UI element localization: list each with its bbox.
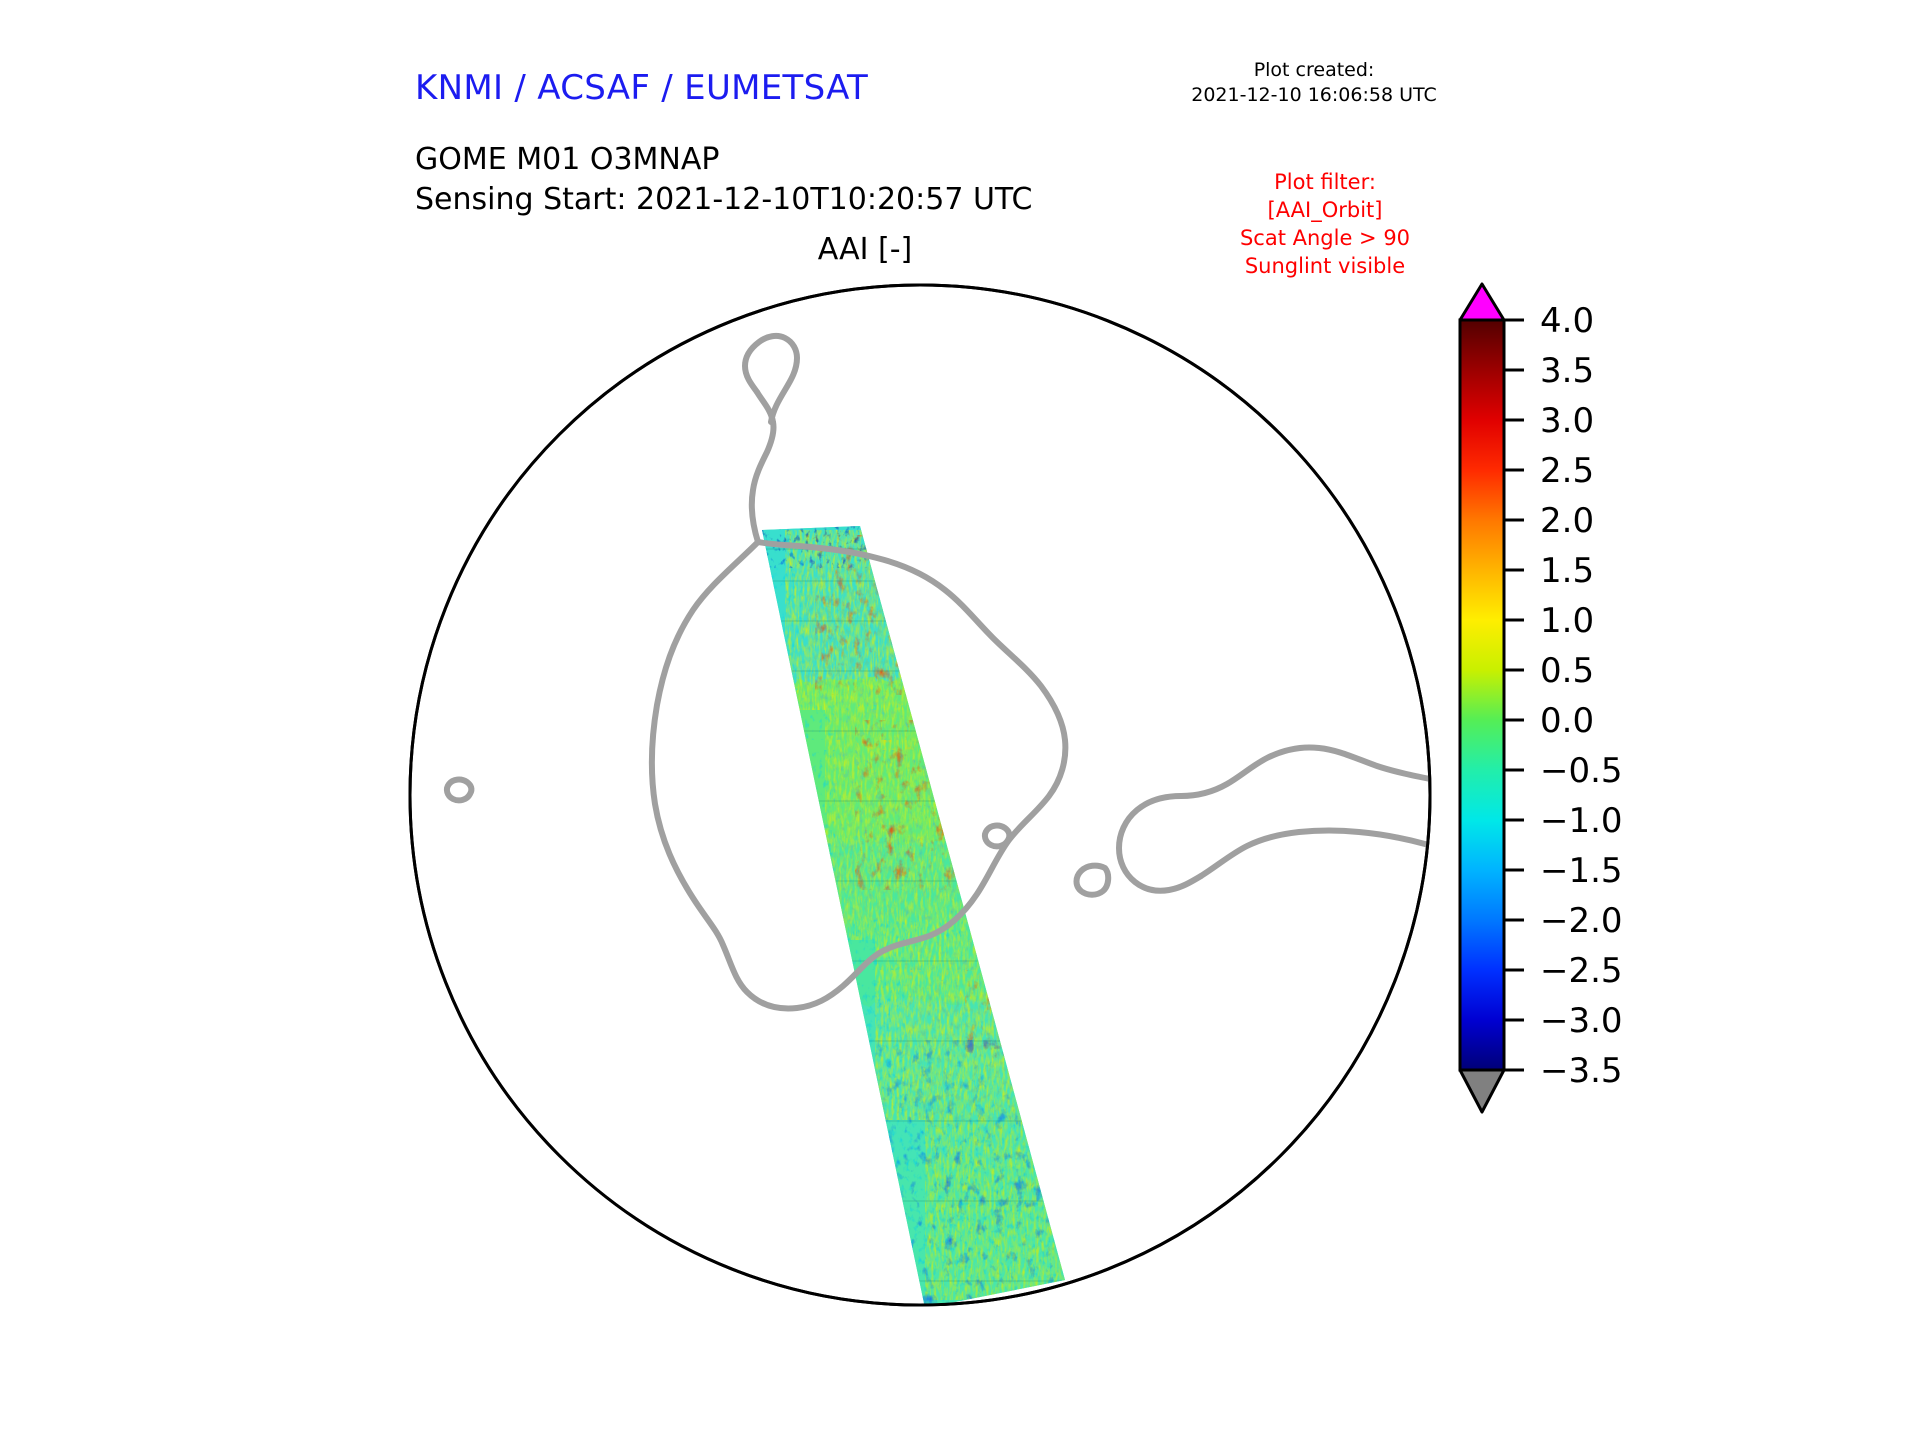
colorbar-tick-label: −0.5	[1540, 751, 1623, 791]
plot-created-label: Plot created:	[1168, 58, 1460, 83]
quantity-title: AAI [-]	[700, 232, 1030, 267]
colorbar-tick-label: −2.0	[1540, 901, 1623, 941]
plot-filter-line-1: [AAI_Orbit]	[1180, 196, 1470, 224]
sensing-start-title: Sensing Start: 2021-12-10T10:20:57 UTC	[415, 180, 1032, 220]
plot-filter-line-3: Sunglint visible	[1180, 252, 1470, 280]
colorbar-tick-label: 1.5	[1540, 551, 1594, 591]
organisation-header: KNMI / ACSAF / EUMETSAT	[415, 68, 868, 108]
colorbar-tick-label: −3.5	[1540, 1051, 1623, 1091]
map-svg	[405, 280, 1435, 1310]
plot-filter-line-2: Scat Angle > 90	[1180, 224, 1470, 252]
colorbar-over-range-arrow	[1460, 284, 1504, 320]
colorbar-tick-label: 2.0	[1540, 501, 1594, 541]
colorbar-tick-label: 0.5	[1540, 651, 1594, 691]
plot-title-block: GOME M01 O3MNAP Sensing Start: 2021-12-1…	[415, 140, 1032, 220]
colorbar-tick-label: 1.0	[1540, 601, 1594, 641]
colorbar-gradient	[1460, 320, 1504, 1070]
colorbar-tick-label: 0.0	[1540, 701, 1594, 741]
plot-filter-heading: Plot filter:	[1180, 168, 1470, 196]
colorbar-svg: 4.03.53.02.52.01.51.00.50.0−0.5−1.0−1.5−…	[1448, 282, 1778, 1304]
plot-created-block: Plot created: 2021-12-10 16:06:58 UTC	[1168, 58, 1460, 108]
colorbar-tick-labels: 4.03.53.02.52.01.51.00.50.0−0.5−1.0−1.5−…	[1540, 301, 1623, 1091]
map-plot-area	[405, 280, 1435, 1310]
colorbar-tick-label: −1.0	[1540, 801, 1623, 841]
colorbar-tick-label: −3.0	[1540, 1001, 1623, 1041]
colorbar-under-range-arrow	[1460, 1070, 1504, 1112]
colorbar-tick-label: 3.5	[1540, 351, 1594, 391]
colorbar: 4.03.53.02.52.01.51.00.50.0−0.5−1.0−1.5−…	[1448, 282, 1500, 1304]
colorbar-ticks	[1504, 320, 1524, 1070]
plot-filter-block: Plot filter: [AAI_Orbit] Scat Angle > 90…	[1180, 168, 1470, 280]
colorbar-tick-label: 2.5	[1540, 451, 1594, 491]
colorbar-tick-label: −1.5	[1540, 851, 1623, 891]
colorbar-tick-label: 3.0	[1540, 401, 1594, 441]
colorbar-tick-label: 4.0	[1540, 301, 1594, 341]
plot-created-timestamp: 2021-12-10 16:06:58 UTC	[1168, 83, 1460, 108]
colorbar-tick-label: −2.5	[1540, 951, 1623, 991]
instrument-title: GOME M01 O3MNAP	[415, 140, 1032, 180]
